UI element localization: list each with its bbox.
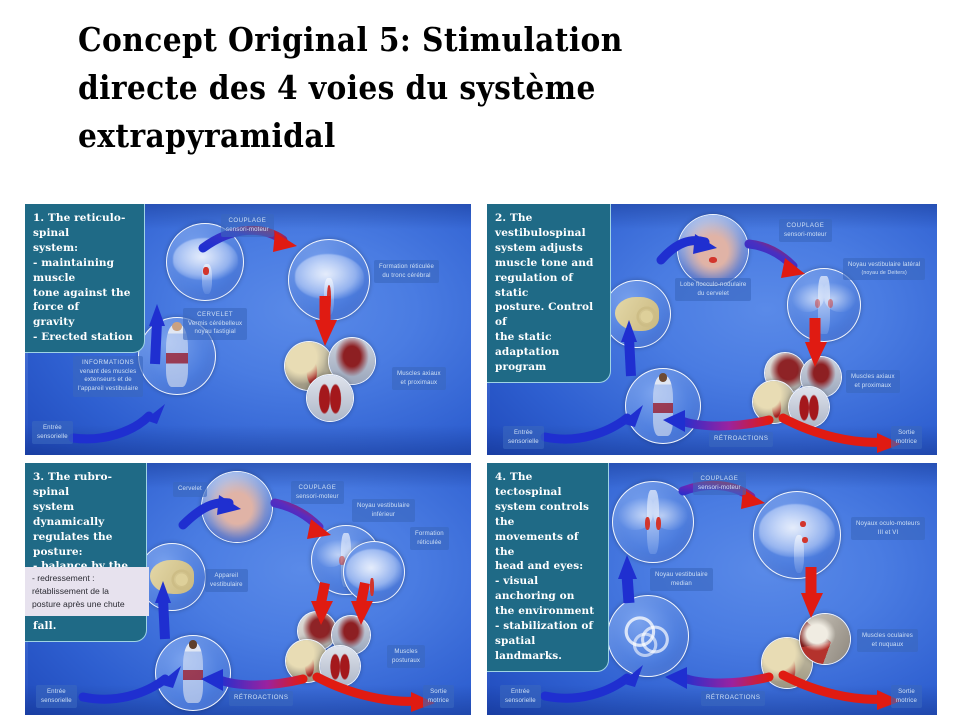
tag-lateral-vestibular-nucleus: Noyau vestibulaire latéral (noyau de Dei…: [843, 258, 925, 280]
tag-reticular-formation: Formation réticulée du tronc cérébral: [374, 260, 439, 283]
node-reticular-formation[interactable]: [288, 239, 370, 321]
node-reticular-formation[interactable]: [343, 541, 405, 603]
diagram-panel-tectospinal[interactable]: COUPLAGE sensori-moteur Noyau vestibulai…: [487, 463, 937, 715]
tag-ocular-nuchal-muscles: Muscles oculaires et nuquaux: [857, 629, 918, 652]
node-median-vestibular-nucleus[interactable]: [612, 481, 694, 563]
tag-feedback: RÉTROACTIONS: [229, 691, 293, 706]
panel-2-heading: 2. The vestibulospinal system adjusts mu…: [487, 204, 611, 383]
title-line-3: extrapyramidal: [78, 112, 838, 160]
tag-motor-output: Sortie motrice: [423, 685, 454, 708]
tag-cerebellum: Cervelet: [173, 482, 207, 497]
tag-reticular-formation: Formation réticulée: [410, 527, 449, 550]
panel-3-note: - redressement : rétablissement de la po…: [25, 567, 149, 616]
node-cerebellum[interactable]: [201, 471, 273, 543]
tag-feedback: RÉTROACTIONS: [701, 691, 765, 706]
title-line-2: directe des 4 voies du système: [78, 64, 838, 112]
tag-sensory-input: Entrée sensorielle: [36, 685, 77, 708]
tag-sensory-input: Entrée sensorielle: [500, 685, 541, 708]
title-line-1: Concept Original 5: Stimulation: [78, 16, 838, 64]
node-standing-body[interactable]: [625, 368, 701, 444]
diagram-panel-vestibulospinal[interactable]: Lobe flocculo-nodulaire du cervelet COUP…: [487, 204, 937, 455]
tag-feedback: RÉTROACTIONS: [709, 432, 773, 447]
tag-vestibular-apparatus: Appareil vestibulaire: [205, 569, 248, 592]
node-flocculonodular-lobe[interactable]: [677, 214, 749, 286]
tag-oculomotor-nuclei: Noyaux oculo-moteurs III et VI: [851, 517, 925, 540]
diagram-panel-reticulospinal[interactable]: CERVELET Vermis cérébelleux noyau fastig…: [25, 204, 471, 455]
node-muscle-eye[interactable]: [799, 613, 851, 665]
node-vestibular-apparatus[interactable]: [603, 280, 671, 348]
tag-axial-muscles: Muscles axiaux et proximaux: [846, 370, 900, 393]
tag-postural-muscles: Muscles posturaux: [387, 645, 425, 668]
node-semicircular-canals[interactable]: [607, 595, 689, 677]
tag-coupling: COUPLAGE sensori-moteur: [693, 472, 746, 495]
tag-sensory-informations: INFORMATIONS venant des muscles extenseu…: [73, 356, 143, 397]
tag-inferior-vestibular-nucleus: Noyau vestibulaire inférieur: [352, 499, 415, 522]
diagram-panel-rubrospinal[interactable]: Cervelet COUPLAGE sensori-moteur Noyau v…: [25, 463, 471, 715]
tag-median-vestibular-nucleus: Noyau vestibulaire median: [650, 568, 713, 591]
panel-4-heading: 4. The tectospinal system controls the m…: [487, 463, 609, 672]
tag-flocculonodular-lobe: Lobe flocculo-nodulaire du cervelet: [675, 278, 751, 301]
node-muscle-thigh[interactable]: [306, 374, 354, 422]
tag-sensory-input: Entrée sensorielle: [503, 426, 544, 449]
tag-coupling: COUPLAGE sensori-moteur: [291, 481, 344, 504]
node-muscle-thigh[interactable]: [788, 386, 830, 428]
tag-coupling: COUPLAGE sensori-moteur: [221, 214, 274, 237]
tag-motor-output: Sortie motrice: [891, 426, 922, 449]
page-title: Concept Original 5: Stimulation directe …: [78, 16, 838, 160]
node-muscle-thigh[interactable]: [319, 645, 361, 687]
tag-axial-muscles: Muscles axiaux et proximaux: [392, 367, 446, 390]
tag-cerebellum: CERVELET Vermis cérébelleux noyau fastig…: [183, 308, 247, 340]
tag-sensory-input: Entrée sensorielle: [32, 421, 73, 444]
panel-1-heading: 1. The reticulo-spinal system: - maintai…: [25, 204, 145, 353]
tag-motor-output: Sortie motrice: [891, 685, 922, 708]
node-oculomotor-nuclei[interactable]: [753, 491, 841, 579]
node-walking-body[interactable]: [155, 635, 231, 711]
tag-coupling: COUPLAGE sensori-moteur: [779, 219, 832, 242]
